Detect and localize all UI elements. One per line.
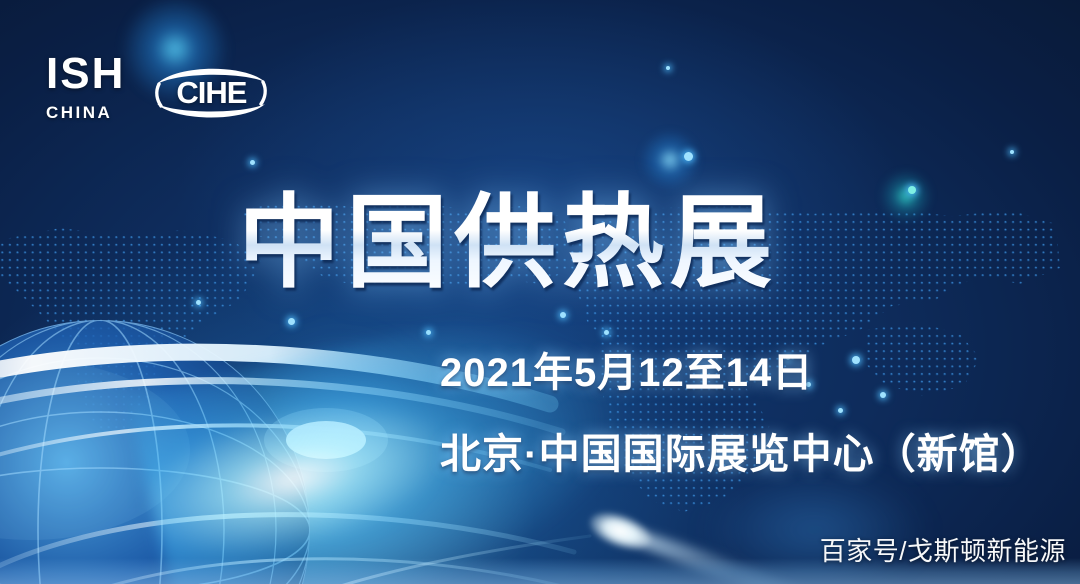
lens-flare-glow <box>640 130 700 190</box>
event-poster: ISH CHINA CIHE 中国供热展 2021年5月12至14日 北京·中国… <box>0 0 1080 584</box>
event-date: 2021年5月12至14日 <box>440 340 813 398</box>
particle <box>1010 150 1014 154</box>
lens-flare-glow <box>880 170 932 222</box>
particle <box>250 160 255 165</box>
particle <box>196 300 201 305</box>
ish-china-logo: ISH CHINA <box>46 52 125 121</box>
particle <box>288 318 295 325</box>
cihe-logo: CIHE <box>151 54 271 132</box>
ambient-glow <box>240 330 440 530</box>
particle <box>852 356 860 364</box>
particle <box>908 186 916 194</box>
particle <box>684 152 693 161</box>
cihe-logo-text: CIHE <box>176 77 246 108</box>
ish-logo-text: ISH <box>46 52 125 96</box>
page-title: 中国供热展 <box>238 188 838 298</box>
watermark: 百家号/戈斯顿新能源 <box>820 531 1066 568</box>
comet-graphic <box>582 499 841 584</box>
particle <box>838 408 843 413</box>
particle <box>426 330 431 335</box>
particle <box>880 392 886 398</box>
particle <box>666 66 670 70</box>
event-venue: 北京·中国国际展览中心（新馆） <box>440 420 1043 480</box>
ish-logo-subtext: CHINA <box>46 104 112 121</box>
particle <box>604 330 609 335</box>
comet-tail <box>603 517 845 584</box>
comet-head <box>585 505 656 557</box>
logo-group: ISH CHINA CIHE <box>46 52 271 132</box>
particle <box>560 312 566 318</box>
